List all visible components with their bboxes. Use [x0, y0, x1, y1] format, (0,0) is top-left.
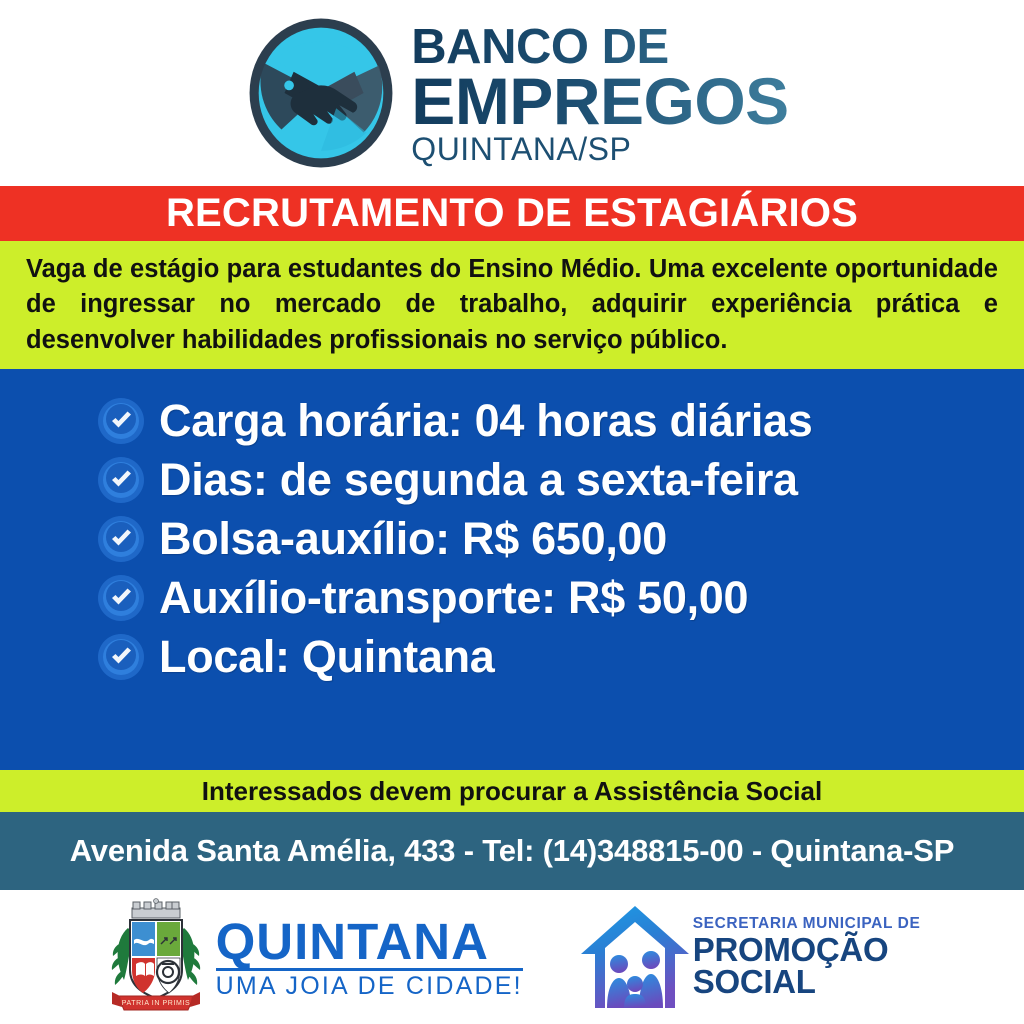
promocao-line-1: PROMOÇÃO: [693, 934, 921, 966]
list-item: Bolsa-auxílio: R$ 650,00: [97, 513, 927, 565]
promocao-line-2: SOCIAL: [693, 966, 921, 998]
list-item: Dias: de segunda a sexta-feira: [97, 454, 927, 506]
check-circle-icon: [97, 574, 145, 622]
header-logo-area: BANCO DE EMPREGOS QUINTANA/SP: [0, 0, 1024, 186]
handshake-circle-icon: [245, 17, 397, 169]
cta-band: Interessados devem procurar a Assistênci…: [0, 770, 1024, 812]
house-family-heart-icon: [579, 902, 691, 1012]
list-item-label: Local: Quintana: [159, 631, 495, 683]
headline-text: RECRUTAMENTO DE ESTAGIÁRIOS: [166, 191, 858, 236]
check-circle-icon: [97, 397, 145, 445]
headline-banner: RECRUTAMENTO DE ESTAGIÁRIOS: [0, 186, 1024, 241]
promocao-social-logo: SECRETARIA MUNICIPAL DE PROMOÇÃO SOCIAL: [579, 902, 921, 1012]
check-circle-icon: [97, 456, 145, 504]
svg-text:PATRIA IN PRIMIS: PATRIA IN PRIMIS: [121, 1000, 189, 1007]
quintana-name: QUINTANA: [216, 916, 523, 971]
list-item-label: Carga horária: 04 horas diárias: [159, 395, 812, 447]
description-band: Vaga de estágio para estudantes do Ensin…: [0, 241, 1024, 369]
promocao-wordmark: SECRETARIA MUNICIPAL DE PROMOÇÃO SOCIAL: [693, 916, 921, 997]
list-item-label: Dias: de segunda a sexta-feira: [159, 454, 798, 506]
list-item: Carga horária: 04 horas diárias: [97, 395, 927, 447]
cta-text: Interessados devem procurar a Assistênci…: [202, 776, 822, 807]
list-item: Auxílio-transporte: R$ 50,00: [97, 572, 927, 624]
quintana-tagline: UMA JOIA DE CIDADE!: [216, 971, 523, 999]
quintana-wordmark: QUINTANA UMA JOIA DE CIDADE!: [216, 916, 523, 999]
quintana-coat-of-arms-icon: PATRIA IN PRIMIS: [104, 898, 208, 1016]
address-band: Avenida Santa Amélia, 433 - Tel: (14)348…: [0, 812, 1024, 890]
details-section: Carga horária: 04 horas diárias Dias: de…: [0, 369, 1024, 770]
address-text: Avenida Santa Amélia, 433 - Tel: (14)348…: [70, 833, 954, 869]
footer-logos: PATRIA IN PRIMIS QUINTANA UMA JOIA DE CI…: [0, 890, 1024, 1024]
brand-line-3: QUINTANA/SP: [411, 132, 788, 165]
list-item-label: Auxílio-transporte: R$ 50,00: [159, 572, 748, 624]
list-item-label: Bolsa-auxílio: R$ 650,00: [159, 513, 667, 565]
check-circle-icon: [97, 633, 145, 681]
brand-line-2: EMPREGOS: [411, 71, 788, 132]
quintana-city-logo: PATRIA IN PRIMIS QUINTANA UMA JOIA DE CI…: [104, 898, 523, 1016]
check-circle-icon: [97, 515, 145, 563]
poster-canvas: BANCO DE EMPREGOS QUINTANA/SP RECRUTAMEN…: [0, 0, 1024, 1024]
description-text: Vaga de estágio para estudantes do Ensin…: [26, 252, 998, 358]
details-list: Carga horária: 04 horas diárias Dias: de…: [97, 395, 927, 683]
brand-wordmark: BANCO DE EMPREGOS QUINTANA/SP: [411, 21, 788, 165]
list-item: Local: Quintana: [97, 631, 927, 683]
